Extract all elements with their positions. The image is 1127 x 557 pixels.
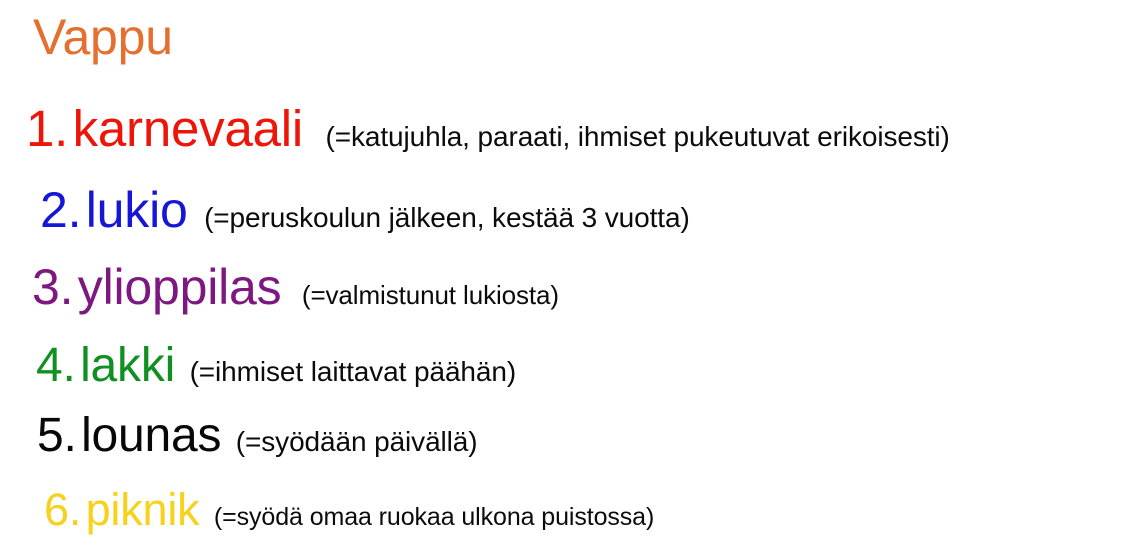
item-1-number: 1. bbox=[26, 100, 68, 157]
item-3-number: 3. bbox=[32, 259, 73, 315]
slide-canvas: Vappu 1. karnevaali (=katujuhla, paraati… bbox=[0, 0, 1127, 557]
item-6-number: 6. bbox=[44, 484, 81, 535]
item-5-term: lounas bbox=[81, 409, 221, 462]
item-2-gloss: (=peruskoulun jälkeen, kestää 3 vuotta) bbox=[192, 202, 690, 233]
item-6-gloss: (=syödä omaa ruokaa ulkona puistossa) bbox=[204, 503, 654, 531]
vocabulary-item-4: 4. lakki (=ihmiset laittavat päähän) bbox=[36, 342, 516, 390]
title-text: Vappu bbox=[33, 9, 173, 65]
vocabulary-item-1: 1. karnevaali (=katujuhla, paraati, ihmi… bbox=[26, 103, 950, 154]
item-2-number: 2. bbox=[40, 182, 81, 238]
page-title: Vappu bbox=[33, 12, 173, 62]
item-5-gloss: (=syödään päivällä) bbox=[226, 426, 478, 457]
vocabulary-item-3: 3. ylioppilas (=valmistunut lukiosta) bbox=[32, 262, 559, 312]
item-1-term: karnevaali bbox=[73, 100, 303, 157]
item-4-number: 4. bbox=[36, 339, 76, 392]
item-3-term: ylioppilas bbox=[78, 259, 282, 315]
vocabulary-item-6: 6. piknik (=syödä omaa ruokaa ulkona pui… bbox=[44, 487, 654, 532]
item-4-gloss: (=ihmiset laittavat päähän) bbox=[180, 356, 516, 387]
item-2-term: lukio bbox=[86, 182, 188, 238]
item-3-gloss: (=valmistunut lukiosta) bbox=[286, 280, 559, 310]
item-5-number: 5. bbox=[37, 409, 77, 462]
vocabulary-item-5: 5. lounas (=syödään päivällä) bbox=[37, 412, 478, 460]
item-6-term: piknik bbox=[86, 484, 200, 535]
item-4-term: lakki bbox=[80, 339, 175, 392]
item-1-gloss: (=katujuhla, paraati, ihmiset pukeutuvat… bbox=[308, 121, 950, 152]
vocabulary-item-2: 2. lukio (=peruskoulun jälkeen, kestää 3… bbox=[40, 185, 690, 235]
